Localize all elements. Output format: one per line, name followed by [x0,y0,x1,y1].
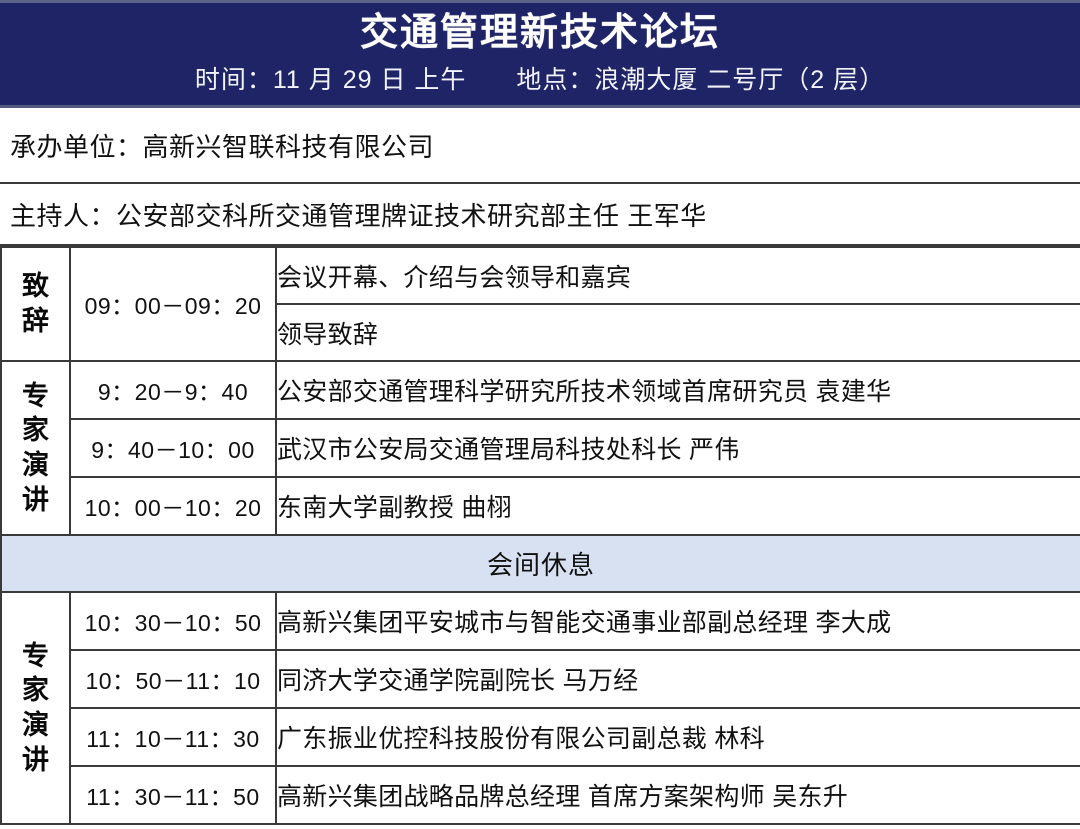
table-row: 专 家 演 讲 9：20－9：40 公安部交通管理科学研究所技术领域首席研究员 … [1,361,1080,419]
topic-cell: 高新兴集团平安城市与智能交通事业部副总经理 李大成 [276,592,1080,650]
poster-banner: 交通管理新技术论坛 时间：11 月 29 日 上午 地点：浪潮大厦 二号厅（2 … [0,0,1080,108]
time-cell: 9：40－10：00 [70,419,276,477]
agenda-table: 致 辞 09：00－09：20 会议开幕、介绍与会领导和嘉宾 领导致辞 专 家 … [0,246,1080,825]
event-time-label: 时间：11 月 29 日 上午 [195,66,467,94]
table-row: 致 辞 09：00－09：20 会议开幕、介绍与会领导和嘉宾 [1,247,1080,304]
section-char: 讲 [2,483,69,518]
break-label: 会间休息 [1,535,1080,592]
section-char: 专 [2,639,69,674]
section-char: 辞 [2,304,69,339]
table-row: 10：50－11：10 同济大学交通学院副院长 马万经 [1,650,1080,708]
time-cell: 10：00－10：20 [70,477,276,535]
topic-cell: 广东振业优控科技股份有限公司副总裁 林科 [276,708,1080,766]
section-char: 家 [2,413,69,448]
topic-cell: 会议开幕、介绍与会领导和嘉宾 [276,247,1080,304]
agenda-poster: 交通管理新技术论坛 时间：11 月 29 日 上午 地点：浪潮大厦 二号厅（2 … [0,0,1080,829]
poster-title: 交通管理新技术论坛 [0,3,1080,52]
table-row: 9：40－10：00 武汉市公安局交通管理局科技处科长 严伟 [1,419,1080,477]
time-cell: 10：50－11：10 [70,650,276,708]
moderator-text: 主持人：公安部交科所交通管理牌证技术研究部主任 王军华 [10,196,707,233]
topic-cell: 公安部交通管理科学研究所技术领域首席研究员 袁建华 [276,361,1080,419]
section-char: 演 [2,448,69,483]
host-organization-text: 承办单位：高新兴智联科技有限公司 [10,127,434,164]
topic-cell: 高新兴集团战略品牌总经理 首席方案架构师 吴东升 [276,766,1080,824]
section-char: 专 [2,379,69,414]
topic-cell: 东南大学副教授 曲栩 [276,477,1080,535]
event-place-label: 地点：浪潮大厦 二号厅（2 层） [516,66,885,94]
section-char: 讲 [2,743,69,778]
section-label-opening: 致 辞 [1,247,70,361]
section-char: 演 [2,708,69,743]
section-char: 致 [2,269,69,304]
table-row: 11：30－11：50 高新兴集团战略品牌总经理 首席方案架构师 吴东升 [1,766,1080,824]
time-cell: 10：30－10：50 [70,592,276,650]
table-row: 10：00－10：20 东南大学副教授 曲栩 [1,477,1080,535]
time-cell: 11：30－11：50 [70,766,276,824]
topic-cell: 同济大学交通学院副院长 马万经 [276,650,1080,708]
moderator-row: 主持人：公安部交科所交通管理牌证技术研究部主任 王军华 [0,184,1080,246]
time-cell: 09：00－09：20 [70,247,276,361]
table-row-break: 会间休息 [1,535,1080,592]
table-row: 专 家 演 讲 10：30－10：50 高新兴集团平安城市与智能交通事业部副总经… [1,592,1080,650]
section-label-expert-talk-1: 专 家 演 讲 [1,361,70,535]
host-organization-row: 承办单位：高新兴智联科技有限公司 [0,108,1080,184]
section-char: 家 [2,673,69,708]
time-cell: 9：20－9：40 [70,361,276,419]
table-row: 11：10－11：30 广东振业优控科技股份有限公司副总裁 林科 [1,708,1080,766]
poster-subtitle: 时间：11 月 29 日 上午 地点：浪潮大厦 二号厅（2 层） [0,52,1080,93]
topic-cell: 领导致辞 [276,304,1080,361]
topic-cell: 武汉市公安局交通管理局科技处科长 严伟 [276,419,1080,477]
section-label-expert-talk-2: 专 家 演 讲 [1,592,70,824]
time-cell: 11：10－11：30 [70,708,276,766]
